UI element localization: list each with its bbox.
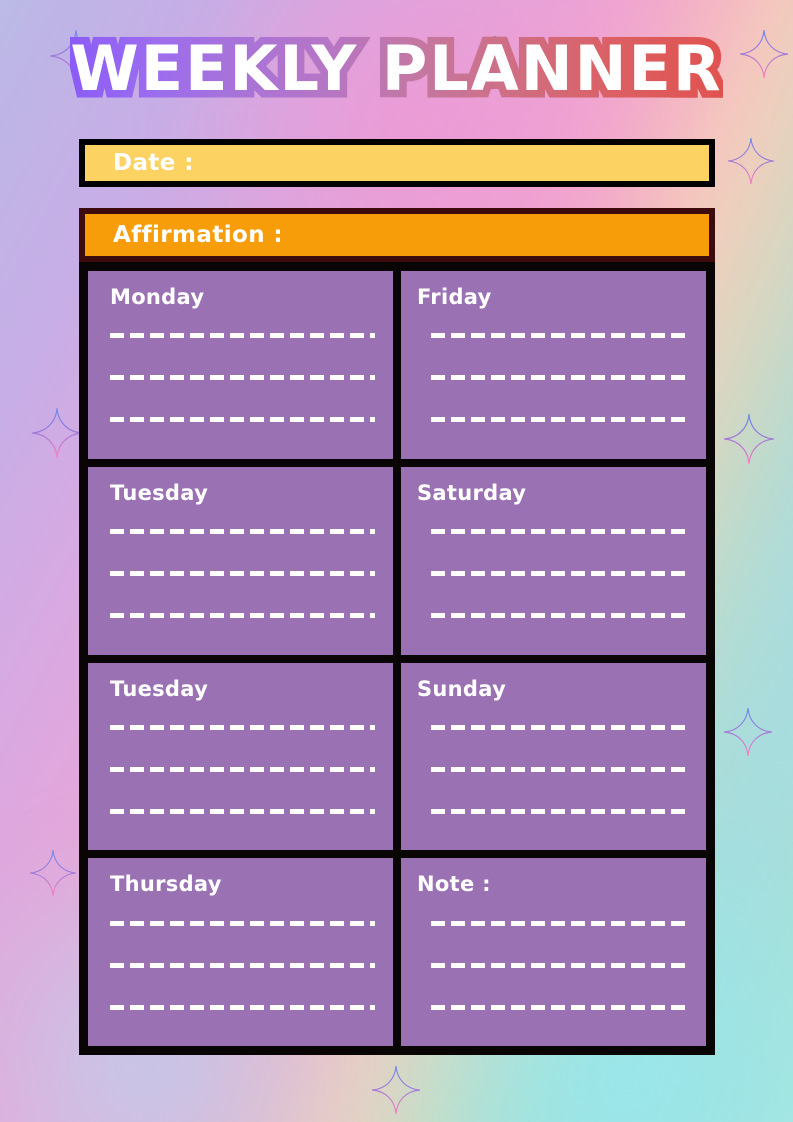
dashed-writing-line[interactable] [110,1005,375,1010]
dashed-writing-line[interactable] [110,529,375,534]
dashed-writing-line[interactable] [431,809,688,814]
affirmation-field[interactable]: Affirmation : [79,208,715,262]
day-cell-writing-lines[interactable] [110,315,375,449]
day-cell-writing-lines[interactable] [423,315,688,449]
date-label: Date : [113,150,194,176]
day-cell-label: Saturday [417,481,688,505]
dashed-writing-line[interactable] [110,613,375,618]
dashed-writing-line[interactable] [431,767,688,772]
day-cell-writing-lines[interactable] [110,511,375,645]
dashed-writing-line[interactable] [431,1005,688,1010]
day-cell[interactable]: Saturday [397,463,710,659]
title-text: WEEKLY PLANNER WEEKLY PLANNER [70,36,722,101]
day-cell[interactable]: Friday [397,267,710,463]
dashed-writing-line[interactable] [431,333,688,338]
day-cell[interactable]: Tuesday [84,463,397,659]
day-cell-label: Sunday [417,677,688,701]
dashed-writing-line[interactable] [110,809,375,814]
day-cell-label: Friday [417,285,688,309]
dashed-writing-line[interactable] [431,613,688,618]
day-cell-writing-lines[interactable] [423,511,688,645]
dashed-writing-line[interactable] [110,571,375,576]
dashed-writing-line[interactable] [431,571,688,576]
dashed-writing-line[interactable] [110,725,375,730]
date-field[interactable]: Date : [79,139,715,187]
day-cell[interactable]: Sunday [397,659,710,855]
day-cell-writing-lines[interactable] [423,902,688,1036]
day-cell-writing-lines[interactable] [423,707,688,841]
dashed-writing-line[interactable] [431,725,688,730]
day-cell-label: Note : [417,872,688,896]
day-cell-label: Monday [110,285,375,309]
dashed-writing-line[interactable] [431,417,688,422]
day-cell-label: Tuesday [110,677,375,701]
dashed-writing-line[interactable] [431,375,688,380]
day-cell[interactable]: Thursday [84,854,397,1050]
dashed-writing-line[interactable] [110,963,375,968]
day-grid: MondayFridayTuesdaySaturdayTuesdaySunday… [79,262,715,1055]
day-cell[interactable]: Monday [84,267,397,463]
dashed-writing-line[interactable] [431,921,688,926]
dashed-writing-line[interactable] [110,417,375,422]
affirmation-label: Affirmation : [113,222,283,248]
dashed-writing-line[interactable] [110,767,375,772]
dashed-writing-line[interactable] [110,921,375,926]
dashed-writing-line[interactable] [431,963,688,968]
day-cell[interactable]: Note : [397,854,710,1050]
planner-page: WEEKLY PLANNER WEEKLY PLANNER Date : Aff… [0,0,793,1122]
day-cell-label: Thursday [110,872,375,896]
title-fill: WEEKLY PLANNER [70,32,722,105]
day-cell-writing-lines[interactable] [110,707,375,841]
dashed-writing-line[interactable] [110,375,375,380]
dashed-writing-line[interactable] [110,333,375,338]
dashed-writing-line[interactable] [431,529,688,534]
day-cell[interactable]: Tuesday [84,659,397,855]
day-cell-writing-lines[interactable] [110,902,375,1036]
day-cell-label: Tuesday [110,481,375,505]
page-title: WEEKLY PLANNER WEEKLY PLANNER [0,36,793,101]
